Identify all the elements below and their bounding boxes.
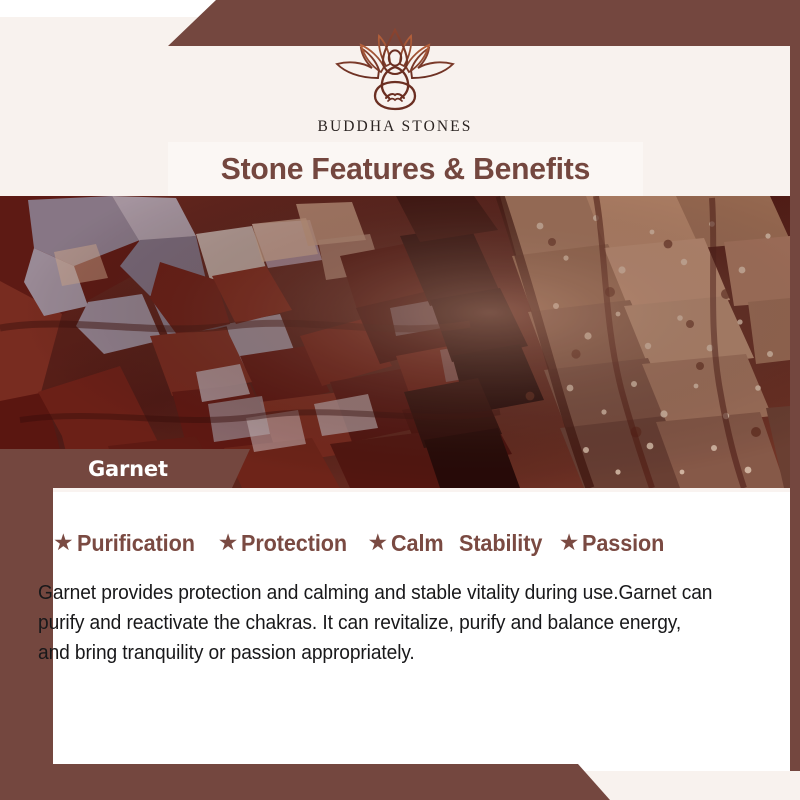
decor-bottom-cream-sliver <box>578 771 800 800</box>
feature-protection: ★ Protection <box>218 530 357 557</box>
brand-name: BUDDHA STONES <box>318 118 473 136</box>
page-title: Stone Features & Benefits <box>221 151 590 187</box>
feature-label: Protection <box>241 530 347 557</box>
stone-benefits-infographic: BUDDHA STONES Stone Features & Benefits <box>0 0 800 800</box>
stone-description: Garnet provides protection and calming a… <box>38 578 717 668</box>
stone-name-tag: Garnet <box>0 449 250 488</box>
star-icon: ★ <box>368 531 389 554</box>
feature-calm: ★ Calm <box>368 530 449 557</box>
title-banner: Stone Features & Benefits <box>168 142 643 196</box>
stone-name: Garnet <box>88 457 168 481</box>
feature-label: Purification <box>77 530 195 557</box>
feature-stability: Stability <box>459 530 550 557</box>
feature-label: Stability <box>459 530 542 557</box>
star-icon: ★ <box>559 531 580 554</box>
features-row: ★ Purification ★ Protection ★ Calm Stabi… <box>53 530 775 557</box>
star-icon: ★ <box>53 531 74 554</box>
brand-logo: BUDDHA STONES <box>0 28 790 136</box>
decor-right-strip <box>790 0 800 790</box>
feature-label: Calm <box>391 530 444 557</box>
feature-passion: ★ Passion <box>559 530 672 557</box>
feature-purification: ★ Purification <box>53 530 205 557</box>
feature-label: Passion <box>582 530 664 557</box>
lotus-meditation-figure-icon <box>331 28 459 114</box>
star-icon: ★ <box>218 531 239 554</box>
garnet-crystal-cluster-photo <box>0 196 790 488</box>
